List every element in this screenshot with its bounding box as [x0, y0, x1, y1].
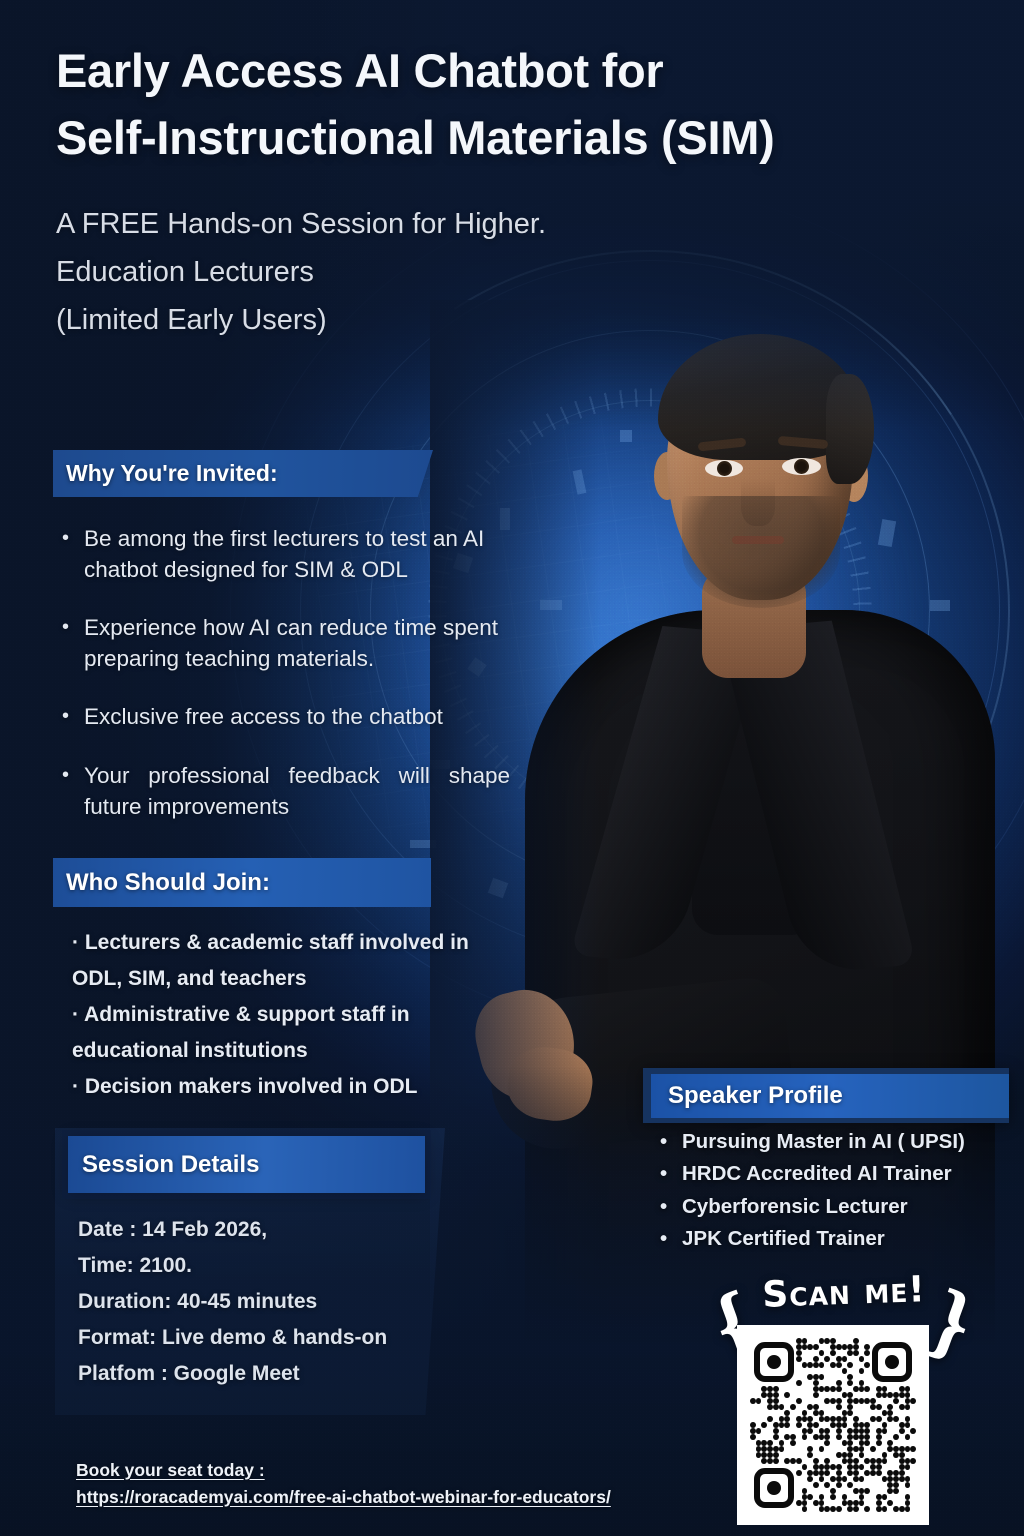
session-detail-time: Time: 2100.: [78, 1248, 478, 1284]
bullet-icon: •: [62, 524, 84, 585]
list-item-label: Exclusive free access to the chatbot: [84, 702, 510, 733]
list-item-label: JPK Certified Trainer: [682, 1223, 885, 1255]
bullet-icon: •: [660, 1191, 682, 1223]
session-detail-duration: Duration: 40-45 minutes: [78, 1284, 478, 1320]
bullet-icon: •: [62, 761, 84, 822]
list-item-label: Experience how AI can reduce time spent …: [84, 613, 510, 674]
subtitle-line-2: Education Lecturers: [56, 248, 676, 296]
list-item: • Exclusive free access to the chatbot: [62, 702, 510, 733]
section-header-why-invited: Why You're Invited:: [53, 450, 433, 497]
list-item-label: Your professional feedback will shape fu…: [84, 761, 510, 822]
list-item: · Administrative & support staff in educ…: [72, 997, 502, 1069]
speaker-profile-list: • Pursuing Master in AI ( UPSI) • HRDC A…: [660, 1126, 1010, 1256]
poster-content: Early Access AI Chatbot for Self-Instruc…: [0, 0, 1024, 1536]
list-item: • Be among the first lecturers to test a…: [62, 524, 510, 585]
list-item: • Experience how AI can reduce time spen…: [62, 613, 510, 674]
qr-finder-top-left: [754, 1342, 794, 1382]
list-item-label: Pursuing Master in AI ( UPSI): [682, 1126, 965, 1158]
who-should-join-list: · Lecturers & academic staff involved in…: [72, 925, 502, 1106]
session-details-list: Date : 14 Feb 2026, Time: 2100. Duration…: [78, 1212, 478, 1393]
list-item: • Pursuing Master in AI ( UPSI): [660, 1126, 1010, 1158]
subtitle-line-1: A FREE Hands-on Session for Higher.: [56, 200, 676, 248]
qr-finder-top-right: [872, 1342, 912, 1382]
qr-finder-bottom-left: [754, 1468, 794, 1508]
page-title: Early Access AI Chatbot for Self-Instruc…: [56, 38, 956, 171]
section-header-speaker-profile: Speaker Profile: [651, 1074, 1009, 1118]
list-item: · Decision makers involved in ODL: [72, 1069, 502, 1105]
list-item: • Cyberforensic Lecturer: [660, 1191, 1010, 1223]
session-detail-platform: Platfom : Google Meet: [78, 1356, 478, 1392]
booking-cta[interactable]: Book your seat today : https://roracadem…: [76, 1457, 716, 1510]
bullet-icon: •: [660, 1126, 682, 1158]
why-invited-list: • Be among the first lecturers to test a…: [62, 524, 510, 850]
bullet-icon: •: [660, 1158, 682, 1190]
section-header-who-should-join: Who Should Join:: [53, 858, 431, 907]
bullet-icon: •: [660, 1223, 682, 1255]
scan-me-label: Scan me!: [748, 1269, 939, 1317]
list-item: • Your professional feedback will shape …: [62, 761, 510, 822]
session-detail-format: Format: Live demo & hands-on: [78, 1320, 478, 1356]
booking-url[interactable]: https://roracademyai.com/free-ai-chatbot…: [76, 1487, 611, 1507]
title-line-2: Self-Instructional Materials (SIM): [56, 105, 956, 172]
booking-label: Book your seat today :: [76, 1460, 265, 1480]
title-line-1: Early Access AI Chatbot for: [56, 38, 956, 105]
list-item: • HRDC Accredited AI Trainer: [660, 1158, 1010, 1190]
poster-root: Early Access AI Chatbot for Self-Instruc…: [0, 0, 1024, 1536]
qr-card[interactable]: [737, 1325, 929, 1525]
list-item-label: Cyberforensic Lecturer: [682, 1191, 908, 1223]
subtitle-line-3: (Limited Early Users): [56, 296, 676, 344]
section-header-session-details: Session Details: [68, 1136, 425, 1193]
session-detail-date: Date : 14 Feb 2026,: [78, 1212, 478, 1248]
list-item: · Lecturers & academic staff involved in…: [72, 925, 502, 997]
list-item-label: Be among the first lecturers to test an …: [84, 524, 510, 585]
list-item-label: HRDC Accredited AI Trainer: [682, 1158, 952, 1190]
bullet-icon: •: [62, 702, 84, 733]
bullet-icon: •: [62, 613, 84, 674]
page-subtitle: A FREE Hands-on Session for Higher. Educ…: [56, 200, 676, 344]
list-item: • JPK Certified Trainer: [660, 1223, 1010, 1255]
qr-code[interactable]: [737, 1325, 929, 1525]
